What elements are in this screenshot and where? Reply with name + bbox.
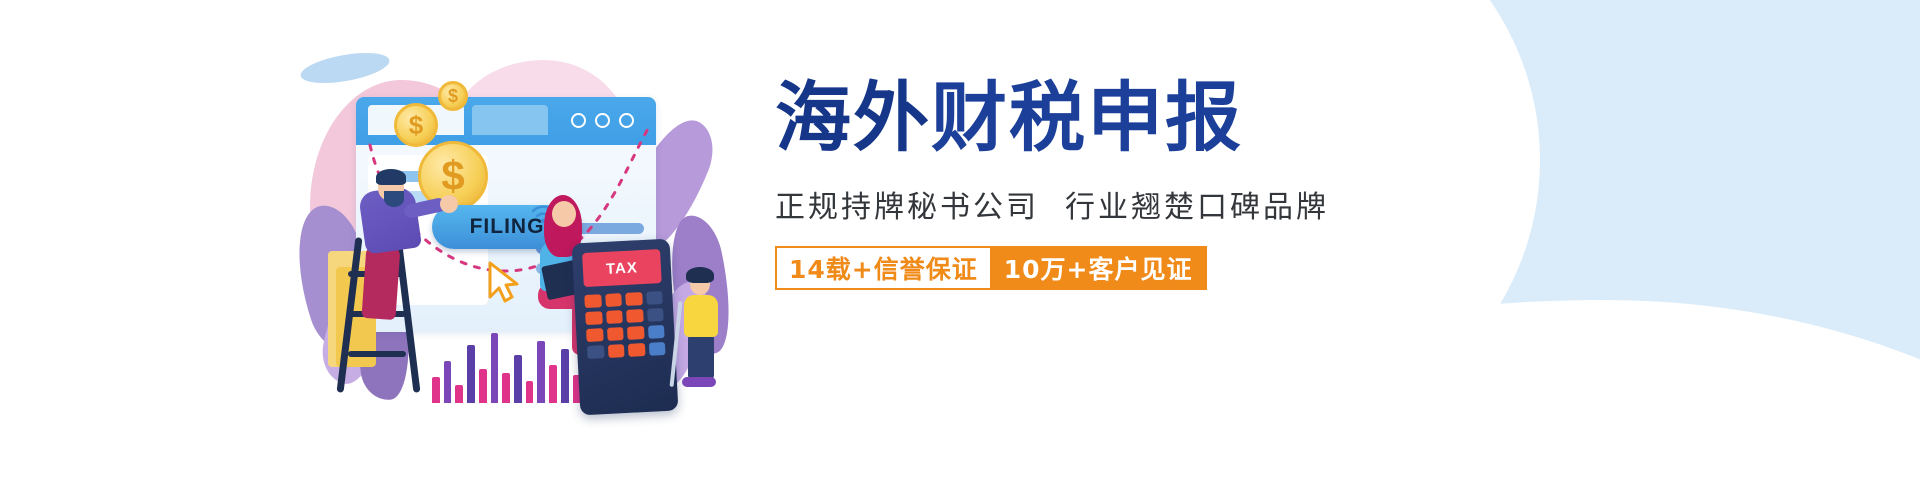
- subtitle-right: 行业翘楚口碑品牌: [1065, 190, 1329, 225]
- man2-hair: [686, 267, 714, 283]
- man-hand: [440, 195, 458, 213]
- subtitle: 正规持牌秘书公司行业翘楚口碑品牌: [775, 182, 1475, 226]
- calculator-key: [646, 291, 663, 305]
- bar-chart-column: [537, 341, 545, 403]
- bar-chart-decor: [432, 311, 592, 403]
- ladder-step: [348, 351, 406, 357]
- bar-chart-column: [444, 361, 452, 403]
- man2-torso: [684, 295, 718, 337]
- headline-part-2: 财税申报: [931, 73, 1243, 162]
- status-badge-clients: 10万+客户见证: [990, 246, 1207, 290]
- coin-symbol: $: [409, 110, 423, 141]
- calculator-key: [647, 325, 664, 339]
- calculator-key: [648, 342, 665, 356]
- coin-icon-small-b: $: [438, 81, 468, 111]
- subtitle-left: 正规持牌秘书公司: [775, 190, 1039, 225]
- calculator-key: [587, 345, 604, 359]
- calculator-key: [627, 326, 644, 340]
- calculator-key: [585, 311, 602, 325]
- calculator-screen: TAX: [582, 249, 662, 287]
- bar-chart-column: [549, 365, 557, 403]
- bar-chart-column: [526, 381, 534, 403]
- calculator-illustration: TAX: [572, 239, 679, 416]
- copy-block: 海外财税申报 正规持牌秘书公司行业翘楚口碑品牌 14载+信誉保证 10万+客户见…: [775, 80, 1475, 290]
- hero-illustration: $ $ $ FILING: [300, 55, 740, 395]
- headline-part-1: 海外: [775, 73, 931, 162]
- background-bottom-strip: [0, 472, 1920, 500]
- bar-chart-column: [455, 385, 463, 403]
- man2-shoes: [682, 377, 716, 387]
- badge-row: 14载+信誉保证 10万+客户见证: [775, 246, 1475, 290]
- bar-chart-column: [479, 369, 487, 403]
- calculator-key: [605, 293, 622, 307]
- calculator-key: [625, 292, 642, 306]
- calculator-key: [626, 309, 643, 323]
- woman-head: [552, 201, 576, 227]
- bar-chart-column: [561, 349, 569, 403]
- man-beard: [384, 191, 404, 207]
- bar-chart-column: [467, 345, 475, 403]
- status-badge-experience: 14载+信誉保证: [775, 246, 990, 290]
- calculator-keypad: [584, 291, 665, 359]
- calculator-key: [606, 310, 623, 324]
- cursor-arrow-icon: [486, 261, 520, 303]
- calculator-key: [607, 344, 624, 358]
- calculator-key: [628, 343, 645, 357]
- calculator-key: [647, 308, 664, 322]
- bar-chart-column: [432, 377, 440, 403]
- man-hair: [376, 169, 406, 185]
- page-title: 海外财税申报: [775, 80, 1475, 156]
- man2-legs: [688, 333, 714, 381]
- coin-symbol: $: [448, 86, 458, 107]
- calculator-key: [586, 328, 603, 342]
- coin-icon-small-a: $: [394, 103, 438, 147]
- bar-chart-column: [502, 373, 510, 403]
- bar-chart-column: [514, 355, 522, 403]
- man-legs: [361, 244, 400, 320]
- calculator-key: [607, 327, 624, 341]
- bar-chart-column: [491, 333, 499, 403]
- calculator-key: [584, 294, 601, 308]
- marketing-banner: $ $ $ FILING: [0, 0, 1920, 500]
- coin-symbol: $: [441, 152, 464, 200]
